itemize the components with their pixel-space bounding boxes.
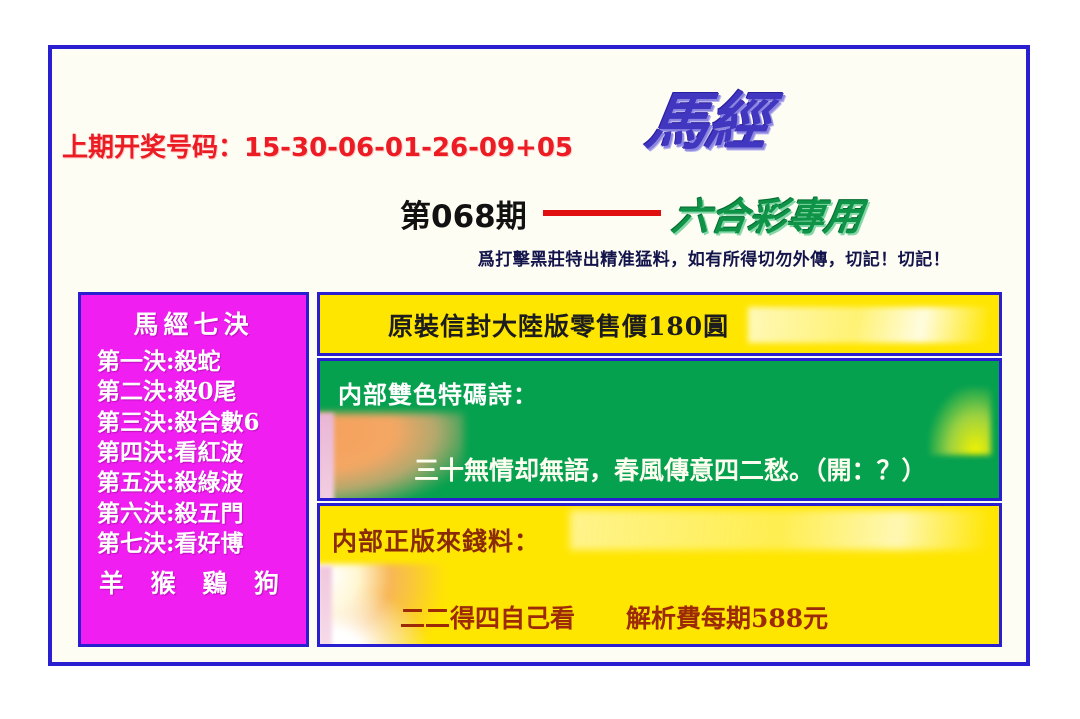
header-tagline: 爲打擊黑莊特出精准猛料，如有所得切勿外傳，切記！切記！: [404, 245, 1024, 270]
yellow-corner-blob: [929, 387, 991, 455]
price-band: 原裝信封大陸版零售價180圓: [317, 292, 1002, 356]
money-line-right: 解析費每期588元: [626, 599, 828, 635]
poem-text: 三十無情却無語，春風傳意四二愁。（開：？）: [414, 451, 927, 487]
issue-number: 第068期: [400, 191, 527, 236]
brand-logo: 馬經: [641, 71, 775, 161]
money-material-band: 内部正版來錢料： 二二得四自己看 解析費每期588元: [317, 503, 1002, 647]
blur-smear-overlay-2: [570, 510, 990, 550]
zodiac-picks: 羊 猴 鷄 狗: [81, 564, 306, 600]
poster-page: 上期开奖号码：15-30-06-01-26-09+05 馬經 第068期 六合彩…: [0, 0, 1080, 719]
money-line-left: 二二得四自己看: [400, 599, 575, 635]
brand-subtitle: 六合彩專用: [669, 186, 867, 241]
poster-header: 上期开奖号码：15-30-06-01-26-09+05 馬經 第068期 六合彩…: [52, 49, 1026, 289]
dual-color-poem-band: 内部雙色特碼詩： 三十無情却無語，春風傳意四二愁。（開：？）: [317, 358, 1002, 501]
tip-item-5: 第五決:殺綠波: [81, 468, 306, 498]
seven-tips-title: 馬經七決: [81, 305, 306, 341]
content-columns: 馬經七決 第一決:殺蛇 第二決:殺0尾 第三決:殺合數6 第四決:看紅波 第五決…: [78, 292, 1002, 649]
tip-item-1: 第一決:殺蛇: [81, 347, 306, 377]
pink-edge-blob-2: [318, 566, 332, 647]
tip-item-2: 第二決:殺0尾: [81, 377, 306, 407]
red-rule-divider: [543, 210, 661, 216]
right-column: 原裝信封大陸版零售價180圓 内部雙色特碼詩： 三十無情却無語，春風傳意四二愁。…: [317, 292, 1002, 647]
tip-item-7: 第七決:看好博: [81, 529, 306, 559]
price-text: 原裝信封大陸版零售價180圓: [388, 307, 729, 343]
seven-tips-panel: 馬經七決 第一決:殺蛇 第二決:殺0尾 第三決:殺合數6 第四決:看紅波 第五決…: [78, 292, 309, 647]
pink-edge-blob: [318, 413, 334, 501]
poem-label: 内部雙色特碼詩：: [338, 375, 538, 410]
tip-item-3: 第三決:殺合數6: [81, 408, 306, 438]
issue-row: 第068期 六合彩專用: [400, 184, 1026, 242]
previous-draw-numbers: 上期开奖号码：15-30-06-01-26-09+05: [62, 127, 573, 164]
money-material-label: 内部正版來錢料：: [332, 522, 540, 558]
blur-smear-overlay: [748, 307, 988, 343]
poster-frame: 上期开奖号码：15-30-06-01-26-09+05 馬經 第068期 六合彩…: [48, 45, 1030, 666]
tip-item-4: 第四決:看紅波: [81, 438, 306, 468]
tip-item-6: 第六決:殺五門: [81, 499, 306, 529]
